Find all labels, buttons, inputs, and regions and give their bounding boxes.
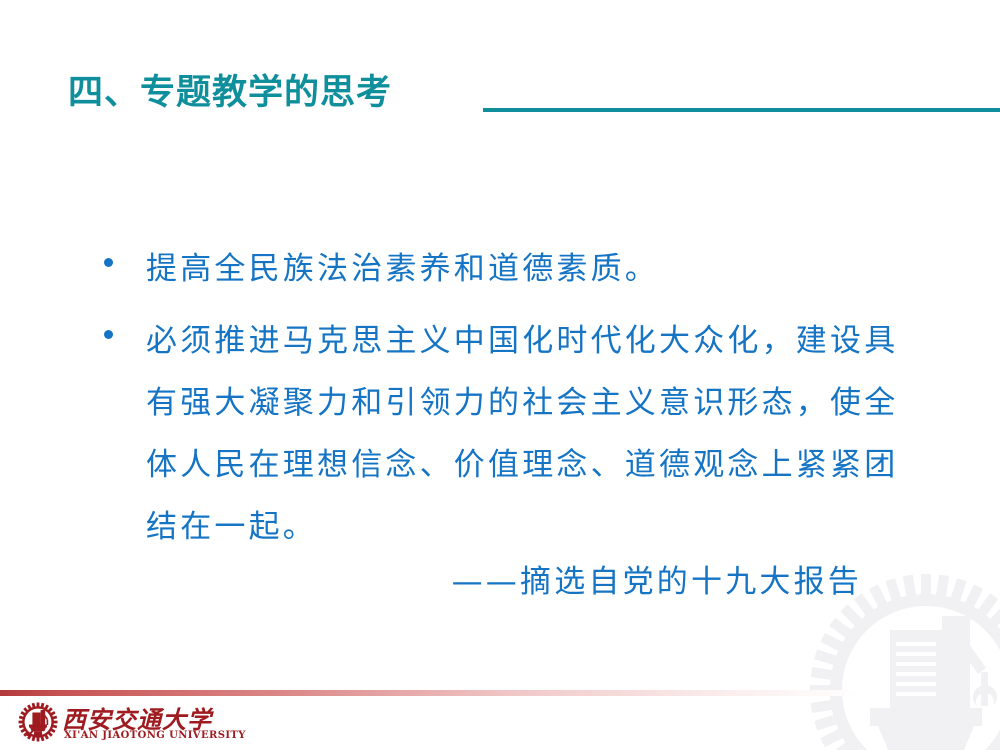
bullet-dot-icon [104, 238, 146, 267]
title-underline-rule [483, 108, 1000, 112]
list-item-text: 必须推进马克思主义中国化时代化大众化，建设具有强大凝聚力和引领力的社会主义意识形… [146, 310, 904, 558]
xjtu-gear-emblem-icon [18, 702, 58, 742]
content-body: 提高全民族法治素养和道德素质。 必须推进马克思主义中国化时代化大众化，建设具有强… [104, 238, 904, 610]
university-logo: 西安交通大学 XI'AN JIAOTONG UNIVERSITY [18, 700, 218, 746]
slide-canvas: 1896 四、专题教学的思考 提高全民族法治素养和道德素质。 必须推进马克思主义… [0, 0, 1000, 750]
university-logo-en: XI'AN JIAOTONG UNIVERSITY [64, 730, 246, 741]
footer-gradient-rule [0, 690, 860, 696]
list-item: 必须推进马克思主义中国化时代化大众化，建设具有强大凝聚力和引领力的社会主义意识形… [104, 310, 904, 558]
list-item-text: 提高全民族法治素养和道德素质。 [146, 238, 904, 300]
bullet-dot-icon [104, 310, 146, 339]
title-block: 四、专题教学的思考 [0, 70, 1000, 130]
page-title: 四、专题教学的思考 [68, 70, 392, 116]
list-item: 提高全民族法治素养和道德素质。 [104, 238, 904, 300]
quote-attribution: ——摘选自党的十九大报告 [104, 554, 904, 610]
